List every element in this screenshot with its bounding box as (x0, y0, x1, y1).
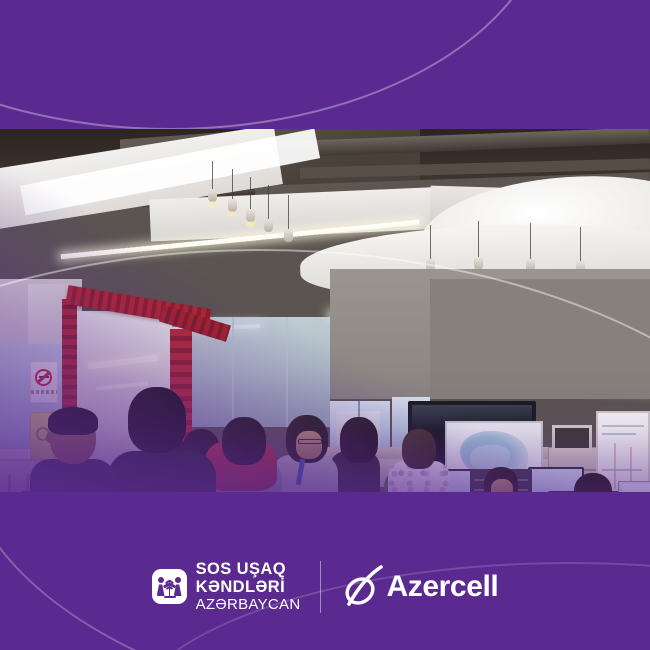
pendant-rod (212, 161, 213, 189)
standing-visitor-head (402, 429, 436, 469)
standing-visitor-hair (48, 407, 98, 435)
sign-caption (31, 390, 57, 394)
azercell-alpha-icon (341, 564, 385, 610)
office-wall (430, 279, 650, 399)
seated-employee-face (491, 479, 513, 493)
pendant-rod (430, 225, 431, 259)
pendant-glow (245, 221, 256, 227)
sos-wordmark-line-2: KƏNDLƏRİ (196, 579, 301, 597)
sos-wordmark-line-1: SOS UŞAQ (196, 561, 301, 579)
whiteboard-writing (602, 433, 636, 435)
figure-head-left (158, 577, 164, 583)
sos-family-icon (152, 569, 187, 604)
office-visit-photo (0, 129, 650, 493)
eyeglasses (298, 439, 322, 444)
cabinet-handle (8, 474, 11, 493)
pendant-light (264, 219, 273, 232)
glass-partition-frame (232, 317, 234, 427)
standing-visitor-head (128, 387, 186, 453)
standing-visitor-body (30, 459, 116, 493)
pendant-glow (207, 201, 218, 207)
whiteboard-writing (614, 443, 616, 489)
standing-visitor-body (108, 451, 216, 493)
pendant-rod (268, 185, 269, 219)
standing-visitor-head (340, 417, 378, 463)
sos-wordmark: SOS UŞAQ KƏNDLƏRİ AZƏRBAYCAN (196, 561, 301, 612)
logo-lockup: SOS UŞAQ KƏNDLƏRİ AZƏRBAYCAN Azercell (0, 556, 650, 618)
pendant-rod (580, 227, 581, 261)
pendant-glow (227, 211, 238, 217)
pendant-rod (288, 195, 289, 229)
figure-head-right (175, 577, 181, 583)
pendant-rod (232, 169, 233, 199)
sos-childrens-villages-logo: SOS UŞAQ KƏNDLƏRİ AZƏRBAYCAN (152, 561, 301, 612)
azercell-logo: Azercell (341, 564, 498, 610)
standing-visitor-face (296, 431, 322, 459)
whiteboard-writing (602, 469, 642, 471)
arc-swoosh-decoration (0, 0, 550, 129)
logo-divider (320, 561, 321, 613)
social-media-card: SOS UŞAQ KƏNDLƏRİ AZƏRBAYCAN Azercell (0, 0, 650, 650)
framed-picture (552, 425, 592, 451)
top-purple-band (0, 0, 650, 129)
glass-partition-frame (286, 317, 288, 427)
pendant-rod (250, 177, 251, 209)
pendant-rod (478, 221, 479, 257)
ground-line (164, 596, 176, 598)
whiteboard-writing (602, 425, 644, 427)
azercell-wordmark: Azercell (386, 570, 498, 604)
standing-visitor-ear (46, 432, 54, 443)
sos-wordmark-line-3: AZƏRBAYCAN (196, 597, 301, 613)
pendant-light (284, 229, 293, 242)
pendant-rod (530, 223, 531, 259)
standing-visitor-head (222, 417, 266, 465)
